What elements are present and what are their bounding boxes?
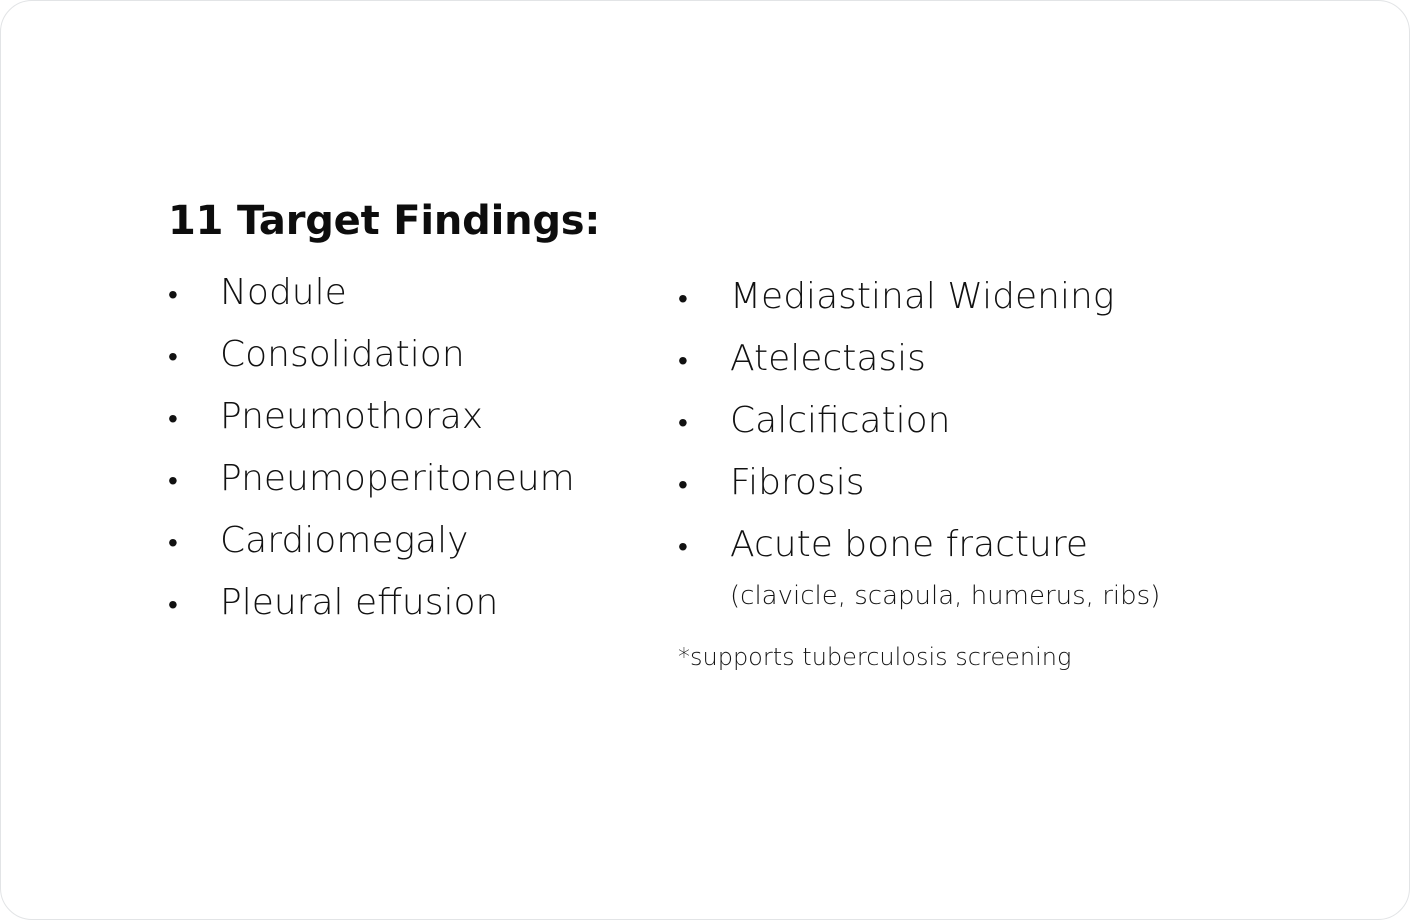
finding-label: Atelectasis (730, 329, 1308, 389)
finding-label: Pneumoperitoneum (220, 449, 678, 509)
bullet-icon: • (168, 327, 220, 387)
list-item: • Pneumoperitoneum (168, 449, 678, 511)
list-item: • Calcification (678, 391, 1308, 453)
list-item: • Pneumothorax (168, 387, 678, 449)
bullet-icon: • (168, 575, 220, 635)
bullet-icon: • (678, 455, 730, 515)
findings-list-left: • Nodule • Consolidation • Pneumothorax … (168, 263, 678, 635)
footnote-text: *supports tuberculosis screening (678, 641, 1308, 673)
finding-label: Pneumothorax (220, 387, 678, 447)
findings-column-left: • Nodule • Consolidation • Pneumothorax … (168, 263, 678, 635)
finding-label: Calcification (730, 391, 1308, 451)
bullet-icon: • (678, 331, 730, 391)
bullet-icon: • (678, 393, 730, 453)
findings-columns: • Nodule • Consolidation • Pneumothorax … (168, 263, 1308, 673)
bullet-icon: • (168, 265, 220, 325)
slide-content: 11 Target Findings: • Nodule • Consolida… (168, 197, 1308, 673)
bullet-icon: • (168, 389, 220, 449)
finding-label: Pleural effusion (220, 573, 678, 633)
list-item: • Acute bone fracture (678, 515, 1308, 577)
finding-label: Acute bone fracture (730, 515, 1308, 575)
finding-label: Nodule (220, 263, 678, 323)
finding-label: Cardiomegaly (220, 511, 678, 571)
findings-column-right: • Mediastinal Widening • Atelectasis • C… (678, 263, 1308, 673)
bullet-icon: • (168, 513, 220, 573)
page-title: 11 Target Findings: (168, 197, 1308, 245)
findings-list-right: • Mediastinal Widening • Atelectasis • C… (678, 267, 1308, 577)
finding-label: Mediastinal Widening (730, 267, 1308, 327)
bullet-icon: • (678, 269, 730, 329)
list-item: • Mediastinal Widening (678, 267, 1308, 329)
list-item: • Cardiomegaly (168, 511, 678, 573)
list-item: • Fibrosis (678, 453, 1308, 515)
finding-label: Fibrosis (730, 453, 1308, 513)
list-item: • Nodule (168, 263, 678, 325)
finding-label: Consolidation (220, 325, 678, 385)
slide-card: 11 Target Findings: • Nodule • Consolida… (0, 0, 1410, 920)
bullet-icon: • (678, 517, 730, 577)
bullet-icon: • (168, 451, 220, 511)
fracture-sites-note: (clavicle, scapula, humerus, ribs) (730, 579, 1308, 613)
list-item: • Atelectasis (678, 329, 1308, 391)
list-item: • Pleural effusion (168, 573, 678, 635)
list-item: • Consolidation (168, 325, 678, 387)
